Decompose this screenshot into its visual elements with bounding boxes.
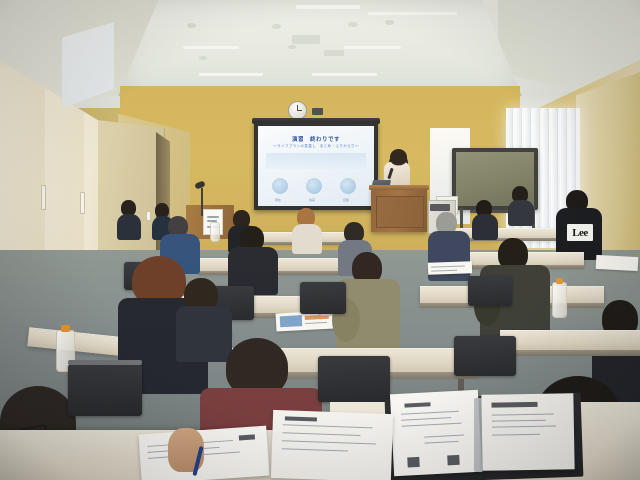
sprinkler-icon [187, 23, 197, 28]
torso [176, 306, 232, 362]
ceiling-light-strip [344, 46, 401, 49]
sprinkler-icon [348, 22, 358, 27]
worksheet[interactable] [271, 410, 393, 480]
qr-code-icon [407, 457, 420, 468]
torso [292, 224, 322, 254]
handout-text-line [305, 322, 327, 324]
text-line [424, 441, 458, 444]
handout[interactable] [428, 261, 472, 275]
ceiling-vent [324, 50, 344, 56]
text-line [282, 432, 360, 436]
av-device [430, 204, 450, 211]
text-line [492, 414, 554, 416]
cabinet-handle[interactable] [41, 185, 47, 210]
text-line [282, 448, 348, 451]
lectern-top [369, 185, 429, 190]
door-handle[interactable] [146, 211, 151, 221]
ceiling-plane [118, 0, 522, 96]
ceiling-light-strip [296, 5, 361, 9]
ceiling-light-strip [312, 73, 377, 76]
slide-figure-icon [306, 178, 322, 194]
bottle-cap [61, 325, 70, 332]
cabinet-handle[interactable] [80, 192, 86, 214]
header-bar [491, 402, 537, 408]
handout-text-line [431, 265, 465, 267]
jacket-logo-patch: Lee [567, 224, 593, 241]
text-line [402, 423, 462, 427]
projector-screen: 演習 終わりです ～ライフプランの見直し まとめ・ふりかえり～ 現在 将来 目標 [258, 126, 374, 206]
chair[interactable] [318, 356, 390, 402]
slide-title: 演習 終わりです [258, 135, 374, 143]
ceiling-light-strip [368, 12, 457, 16]
ceiling-light-strip [183, 46, 240, 49]
blind-slat[interactable] [542, 108, 549, 248]
text-line [282, 440, 376, 444]
torso [117, 214, 141, 240]
torso [508, 200, 534, 226]
text-line [424, 435, 464, 438]
worksheet[interactable] [138, 426, 269, 480]
bottle-cap [556, 278, 563, 284]
slide-figure-icon [272, 178, 288, 194]
slide-figure-icon [340, 178, 356, 194]
binder-page-left[interactable] [390, 390, 482, 476]
header-bar [285, 416, 317, 421]
handout-image [280, 315, 303, 327]
sprinkler-icon [272, 24, 282, 29]
wall-speaker-icon [312, 108, 323, 115]
photo-scene: 演習 終わりです ～ライフプランの見直し まとめ・ふりかえり～ 現在 将来 目標 [0, 0, 640, 480]
ceiling-vent [292, 35, 320, 45]
text-line [401, 417, 451, 421]
handout-text-line [431, 270, 457, 272]
slide-caption: 将来 [301, 198, 323, 202]
chair-frame [68, 360, 142, 365]
text-line [492, 426, 556, 428]
sprinkler-icon [288, 45, 296, 49]
header-bar [404, 402, 430, 407]
header-bar [239, 434, 255, 440]
microphone-stand [201, 188, 203, 216]
ceiling-light-strip [199, 73, 264, 76]
lectern-panel [376, 196, 424, 228]
text-line [283, 424, 373, 428]
drink-bottle[interactable] [210, 222, 220, 242]
smoke-detector-icon [385, 20, 395, 25]
text-line [401, 411, 459, 415]
slide-body-block [266, 153, 366, 169]
chair[interactable] [454, 336, 516, 376]
table-edge [500, 350, 640, 356]
torso [472, 214, 498, 240]
sign-text-line [207, 216, 219, 218]
chair[interactable] [300, 282, 346, 314]
slide-caption: 現在 [267, 198, 289, 202]
drink-bottle[interactable] [552, 282, 567, 318]
chair[interactable] [468, 276, 512, 306]
qr-code-icon [447, 455, 460, 466]
brand-label: Lee [572, 227, 588, 239]
presenter-hair [390, 149, 407, 165]
table-row-1 [500, 330, 640, 351]
handout[interactable] [596, 255, 639, 271]
sprinkler-icon [199, 56, 207, 60]
text-line [492, 434, 540, 436]
chair[interactable] [68, 364, 142, 416]
text-line [492, 420, 546, 422]
slide-subtitle: ～ライフプランの見直し まとめ・ふりかえり～ [258, 144, 374, 149]
binder-page-right[interactable] [481, 393, 574, 471]
slide-caption: 目標 [335, 198, 357, 202]
